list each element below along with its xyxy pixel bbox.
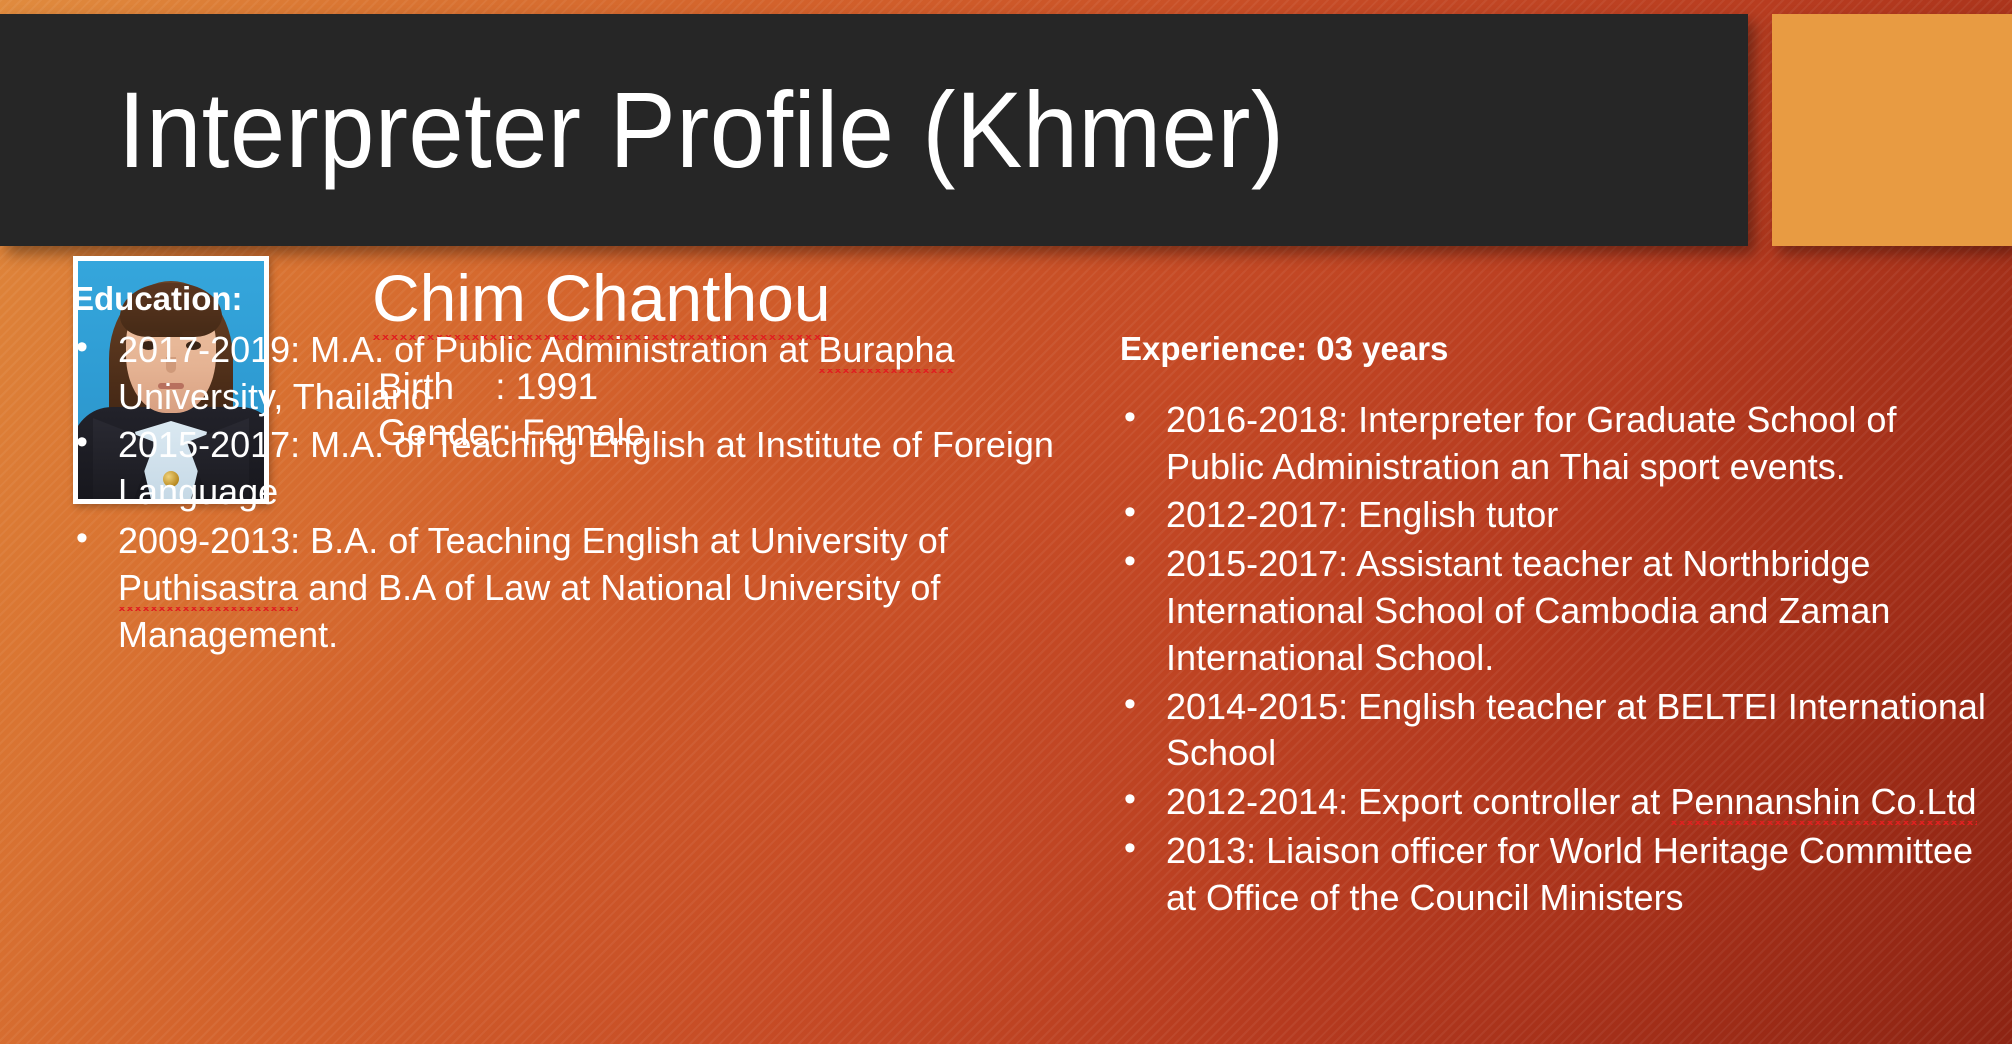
list-item-text: 2012-2017: English tutor: [1166, 494, 1558, 535]
list-item: 2012-2017: English tutor: [1120, 492, 2000, 539]
list-item-text: 2015-2017: Assistant teacher at Northbri…: [1166, 543, 1890, 678]
list-item: 2013: Liaison officer for World Heritage…: [1120, 828, 2000, 922]
list-item-text: 2012-2014: Export controller at: [1166, 781, 1670, 822]
list-item: 2009-2013: B.A. of Teaching English at U…: [72, 518, 1072, 658]
list-item-text: University, Thailand: [118, 376, 431, 417]
list-item: 2016-2018: Interpreter for Graduate Scho…: [1120, 397, 2000, 491]
accent-block: [1772, 14, 2012, 246]
education-list: 2017-2019: M.A. of Public Administration…: [72, 327, 1072, 659]
education-heading: Education:: [72, 278, 1072, 321]
list-item: 2014-2015: English teacher at BELTEI Int…: [1120, 684, 2000, 778]
list-item: 2015-2017: Assistant teacher at Northbri…: [1120, 541, 2000, 681]
misspelled-word: Puthisastra: [118, 567, 298, 612]
list-item: 2017-2019: M.A. of Public Administration…: [72, 327, 1072, 421]
list-item-text: 2009-2013: B.A. of Teaching English at U…: [118, 520, 948, 561]
misspelled-word: Burapha: [818, 329, 954, 374]
list-item-text: 2013: Liaison officer for World Heritage…: [1166, 830, 1973, 918]
list-item: 2012-2014: Export controller at Pennansh…: [1120, 779, 2000, 826]
education-section: Education: 2017-2019: M.A. of Public Adm…: [72, 278, 1072, 660]
list-item-text: 2017-2019: M.A. of Public Administration…: [118, 329, 818, 370]
experience-list: 2016-2018: Interpreter for Graduate Scho…: [1120, 397, 2000, 922]
list-item-text: 2016-2018: Interpreter for Graduate Scho…: [1166, 399, 1896, 487]
list-item-text: 2014-2015: English teacher at BELTEI Int…: [1166, 686, 1986, 774]
list-item-text: 2015-2017: M.A. of Teaching English at I…: [118, 424, 1054, 512]
experience-section: Experience: 03 years 2016-2018: Interpre…: [1120, 328, 2000, 924]
experience-heading: Experience: 03 years: [1120, 328, 2000, 371]
page-title: Interpreter Profile (Khmer): [118, 76, 1284, 184]
list-item: 2015-2017: M.A. of Teaching English at I…: [72, 422, 1072, 516]
misspelled-word: Pennanshin Co.Ltd: [1670, 781, 1976, 826]
slide: Interpreter Profile (Khmer): [0, 0, 2012, 1044]
title-bar: Interpreter Profile (Khmer): [0, 14, 1748, 246]
